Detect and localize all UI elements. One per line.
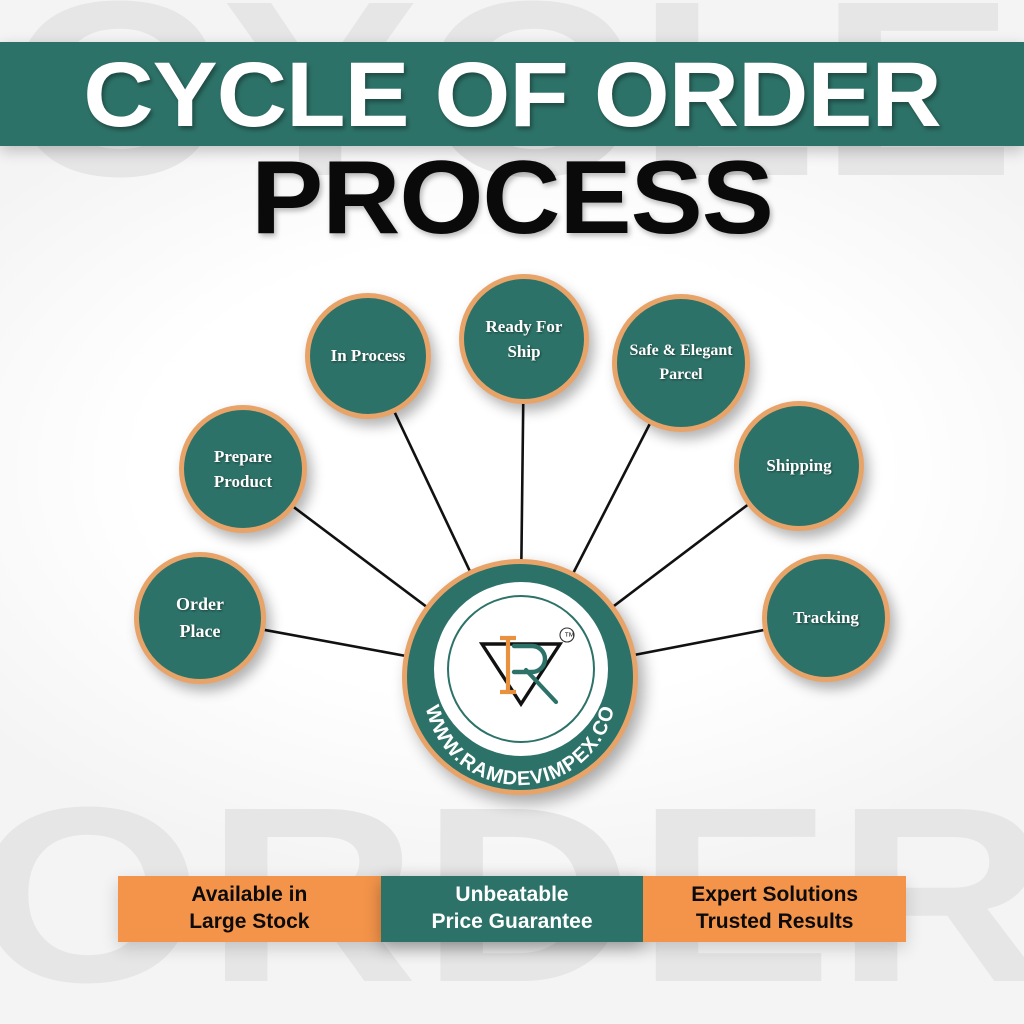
banner-cell-3: Expert SolutionsTrusted Results bbox=[643, 876, 906, 942]
process-node-tracking[interactable]: Tracking bbox=[762, 554, 890, 682]
banner-cell-line: Trusted Results bbox=[696, 909, 854, 936]
center-hub-logo: ™ WWW.RAMDEVIMPEX.CO bbox=[402, 559, 638, 795]
hub-url-curved-text: WWW.RAMDEVIMPEX.CO bbox=[402, 559, 638, 795]
process-node-label: Safe & ElegantParcel bbox=[629, 339, 732, 387]
hub-url-text: WWW.RAMDEVIMPEX.CO bbox=[421, 703, 620, 791]
process-node-label: PrepareProduct bbox=[214, 444, 272, 495]
process-node-order-place[interactable]: OrderPlace bbox=[134, 552, 266, 684]
banner-cell-2: UnbeatablePrice Guarantee bbox=[381, 876, 644, 942]
banner-cell-line: Price Guarantee bbox=[431, 909, 592, 936]
process-node-prepare-product[interactable]: PrepareProduct bbox=[179, 405, 307, 533]
process-node-label: OrderPlace bbox=[176, 591, 224, 645]
page-title-main: CYCLE OF ORDER bbox=[0, 40, 1024, 150]
process-node-ready-for-ship[interactable]: Ready ForShip bbox=[459, 274, 589, 404]
banner-cell-line: Expert Solutions bbox=[691, 882, 858, 909]
banner-cell-line: Large Stock bbox=[189, 909, 309, 936]
infographic-canvas: CYCLE ORDER OrderPlacePrepareProductIn P… bbox=[0, 0, 1024, 1024]
page-title-sub: PROCESS bbox=[0, 144, 1024, 253]
process-node-shipping[interactable]: Shipping bbox=[734, 401, 864, 531]
process-node-label: Ready ForShip bbox=[486, 314, 563, 365]
banner-cell-1: Available inLarge Stock bbox=[118, 876, 381, 942]
process-node-label: In Process bbox=[331, 343, 406, 369]
process-node-label: Tracking bbox=[793, 605, 859, 631]
value-proposition-banner: Available inLarge StockUnbeatablePrice G… bbox=[118, 876, 906, 942]
process-node-in-process[interactable]: In Process bbox=[305, 293, 431, 419]
process-node-safe-elegant-parcel[interactable]: Safe & ElegantParcel bbox=[612, 294, 750, 432]
process-node-label: Shipping bbox=[766, 453, 831, 479]
banner-cell-line: Available in bbox=[191, 882, 307, 909]
banner-cell-line: Unbeatable bbox=[455, 882, 568, 909]
